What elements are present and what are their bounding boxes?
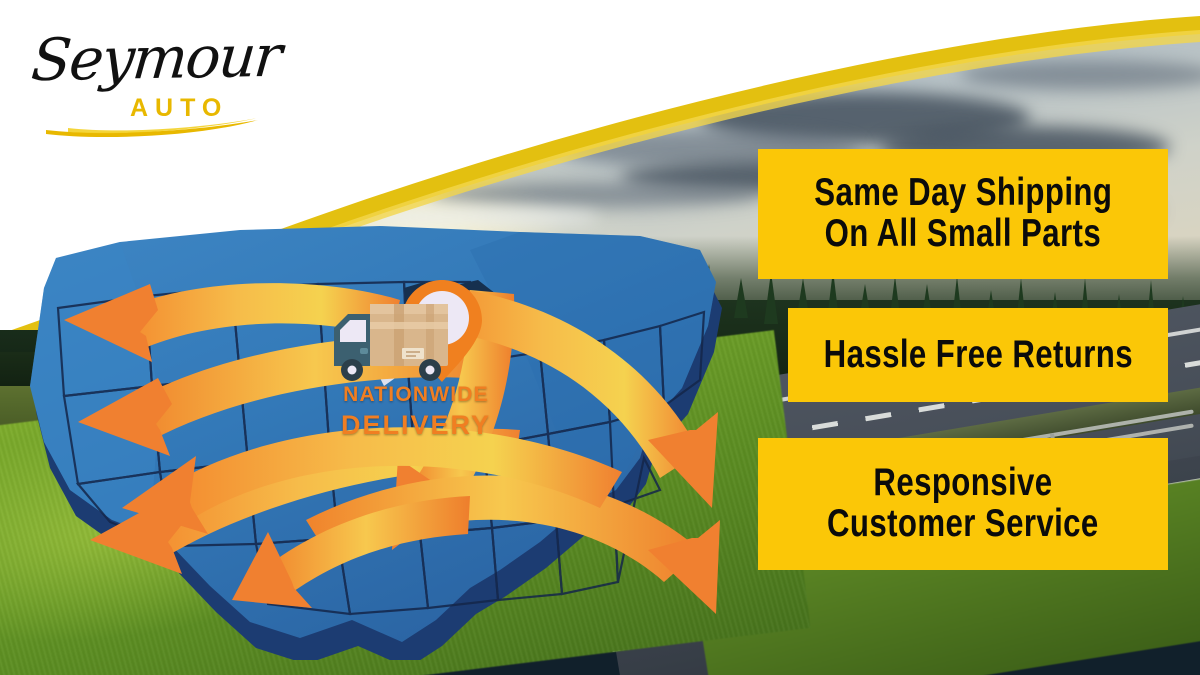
callout-responsive-customer-service[interactable]: Responsive Customer Service: [758, 438, 1168, 570]
truck-and-pin-graphic: [316, 272, 516, 392]
brand-name: Seymour: [29, 22, 283, 94]
callout-line: On All Small Parts: [825, 214, 1102, 255]
brand-logo[interactable]: Seymour AUTO: [26, 22, 276, 132]
callout-line: Responsive: [873, 463, 1052, 504]
callout-line: Hassle Free Returns: [823, 335, 1132, 376]
callout-line: Same Day Shipping: [814, 173, 1112, 214]
callout-same-day-shipping[interactable]: Same Day Shipping On All Small Parts: [758, 149, 1168, 279]
callout-hassle-free-returns[interactable]: Hassle Free Returns: [788, 308, 1168, 402]
callout-line: Customer Service: [827, 504, 1099, 545]
promo-banner: Seymour AUTO: [0, 0, 1200, 675]
delivery-truck-icon: [334, 304, 448, 381]
nationwide-delivery-badge: NATIONWIDE DELIVERY: [316, 272, 516, 452]
badge-line-2: DELIVERY: [316, 412, 516, 439]
badge-line-1: NATIONWIDE: [316, 384, 516, 405]
logo-swoosh-icon: [44, 114, 260, 140]
